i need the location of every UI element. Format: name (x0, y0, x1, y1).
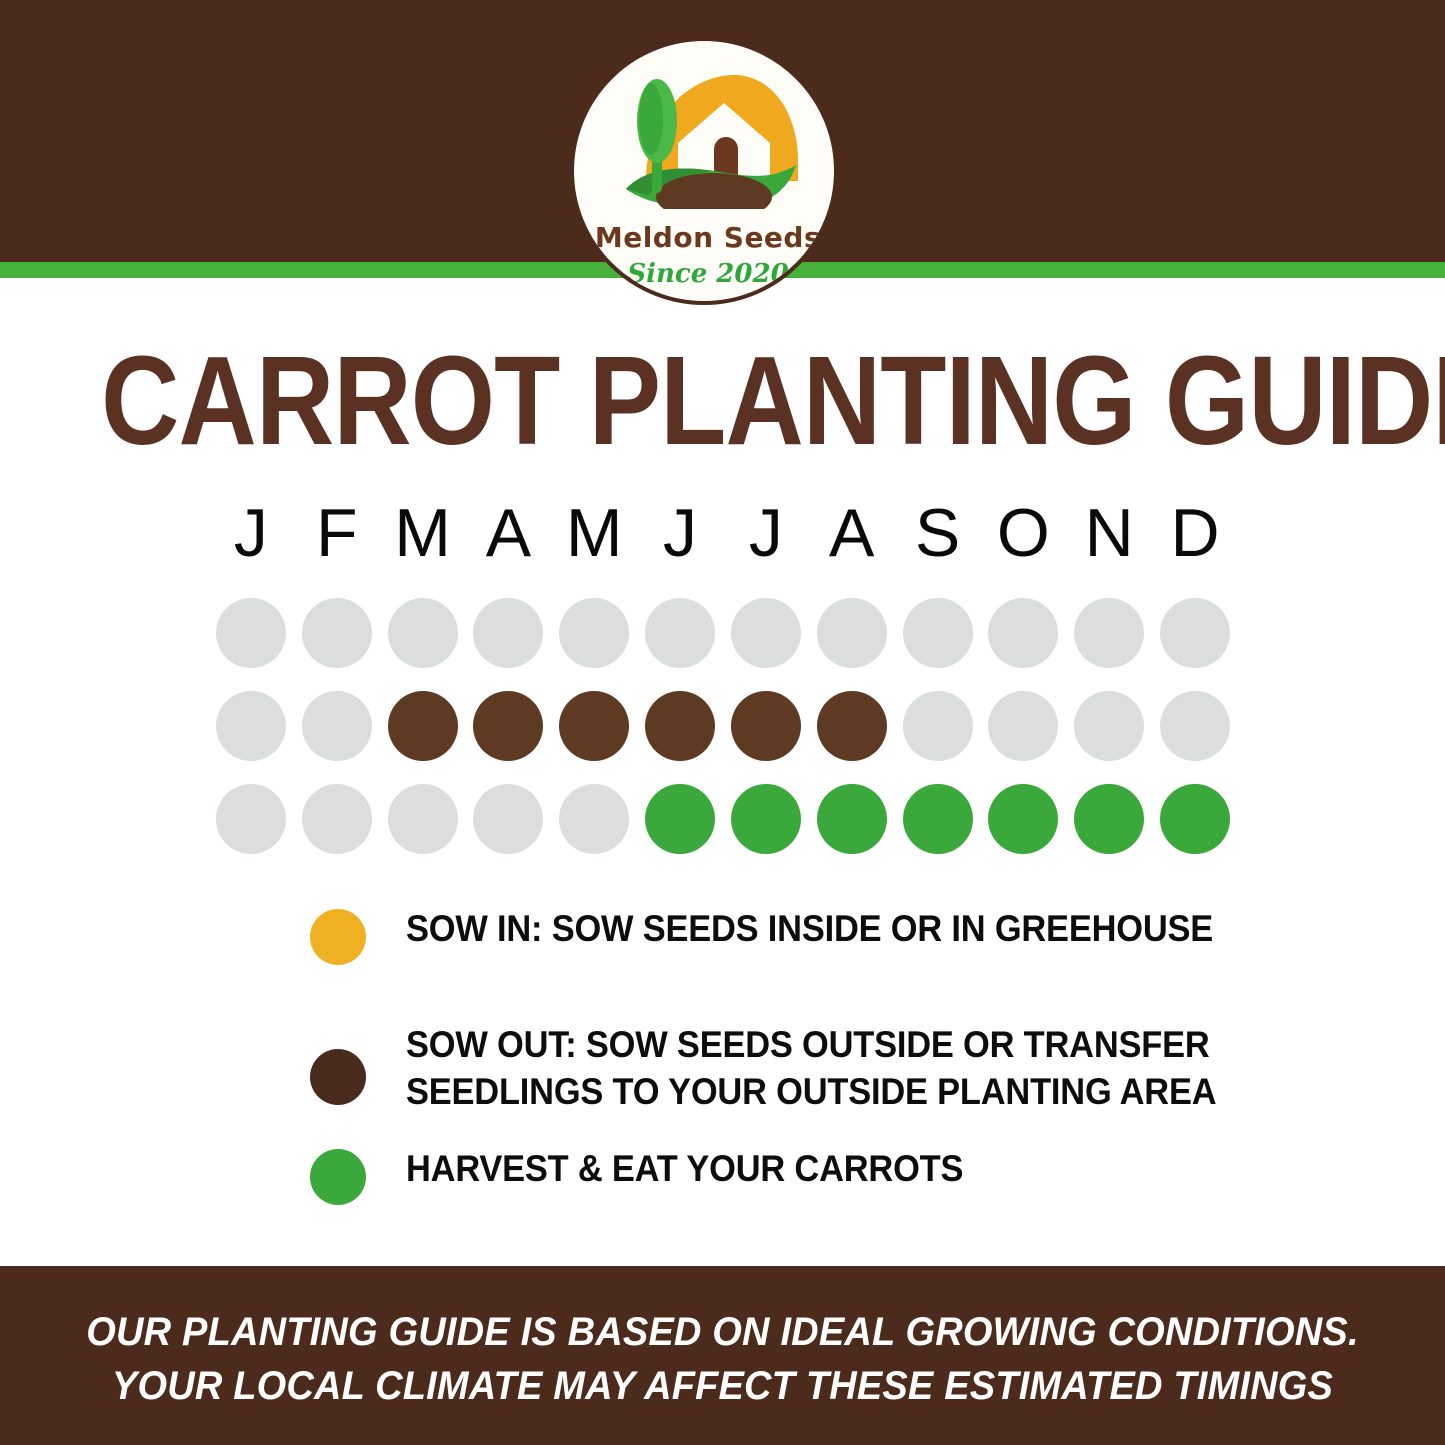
month-label-feb: F (294, 498, 380, 568)
calendar-cell (895, 691, 981, 761)
calendar-cell (1152, 691, 1238, 761)
planting-calendar-grid (208, 598, 1238, 877)
calendar-dot-sow-in-A4 (473, 598, 543, 668)
calendar-cell (465, 784, 551, 854)
calendar-dot-sow-out-J1 (216, 691, 286, 761)
calendar-dot-sow-out-J7 (731, 691, 801, 761)
calendar-row-sow-out (208, 691, 1238, 784)
calendar-dot-sow-out-J6 (645, 691, 715, 761)
calendar-cell (380, 691, 466, 761)
month-label-apr: A (465, 498, 551, 568)
calendar-dot-sow-in-M5 (559, 598, 629, 668)
calendar-cell (980, 784, 1066, 854)
legend-label-sow-out-line2: SEEDLINGS TO YOUR OUTSIDE PLANTING AREA (406, 1068, 1216, 1115)
legend-swatch-sow-in (310, 909, 366, 965)
calendar-cell (551, 598, 637, 668)
page-title: CARROT PLANTING GUIDE (101, 338, 1344, 464)
calendar-cell (551, 784, 637, 854)
calendar-cell (980, 598, 1066, 668)
month-label-mar: M (380, 498, 466, 568)
calendar-cell (1066, 784, 1152, 854)
calendar-dot-sow-out-A4 (473, 691, 543, 761)
logo-circle: Meldon Seeds Since 2020 (570, 37, 838, 305)
month-label-jul: J (723, 498, 809, 568)
calendar-dot-harvest-D12 (1160, 784, 1230, 854)
calendar-dot-sow-out-O10 (988, 691, 1058, 761)
month-label-nov: N (1066, 498, 1152, 568)
calendar-dot-sow-in-S9 (903, 598, 973, 668)
calendar-cell (723, 691, 809, 761)
calendar-dot-harvest-M5 (559, 784, 629, 854)
calendar-cell (895, 784, 981, 854)
calendar-cell (294, 691, 380, 761)
legend-label-sow-out: SOW OUT: SOW SEEDS OUTSIDE OR TRANSFER S… (406, 1021, 1216, 1115)
calendar-cell (208, 784, 294, 854)
calendar-cell (294, 784, 380, 854)
calendar-dot-harvest-S9 (903, 784, 973, 854)
calendar-dot-sow-in-J1 (216, 598, 286, 668)
calendar-cell (1152, 598, 1238, 668)
calendar-dot-sow-in-O10 (988, 598, 1058, 668)
calendar-dot-harvest-A4 (473, 784, 543, 854)
month-label-jan: J (208, 498, 294, 568)
calendar-cell (809, 784, 895, 854)
calendar-cell (380, 784, 466, 854)
calendar-cell (637, 691, 723, 761)
calendar-dot-sow-in-F2 (302, 598, 372, 668)
month-label-may: M (551, 498, 637, 568)
month-header-row: J F M A M J J A S O N D (208, 498, 1238, 568)
calendar-cell (637, 784, 723, 854)
logo-tagline: Since 2020 (574, 259, 838, 289)
legend-label-sow-in: SOW IN: SOW SEEDS INSIDE OR IN GREEHOUSE (406, 905, 1213, 952)
calendar-dot-sow-out-A8 (817, 691, 887, 761)
calendar-cell (1152, 784, 1238, 854)
logo-brand-name: Meldon Seeds (574, 221, 838, 254)
calendar-dot-harvest-M3 (388, 784, 458, 854)
calendar-dot-harvest-J1 (216, 784, 286, 854)
calendar-dot-harvest-N11 (1074, 784, 1144, 854)
calendar-dot-sow-out-M5 (559, 691, 629, 761)
legend-swatch-sow-out (310, 1049, 366, 1105)
calendar-dot-sow-in-A8 (817, 598, 887, 668)
calendar-dot-sow-out-D12 (1160, 691, 1230, 761)
month-label-jun: J (637, 498, 723, 568)
calendar-dot-sow-out-N11 (1074, 691, 1144, 761)
calendar-cell (637, 598, 723, 668)
calendar-cell (809, 598, 895, 668)
calendar-cell (1066, 598, 1152, 668)
calendar-cell (551, 691, 637, 761)
footer-disclaimer-line1: OUR PLANTING GUIDE IS BASED ON IDEAL GRO… (36, 1305, 1409, 1359)
month-label-oct: O (980, 498, 1066, 568)
calendar-dot-sow-out-F2 (302, 691, 372, 761)
calendar-cell (723, 598, 809, 668)
footer-disclaimer: OUR PLANTING GUIDE IS BASED ON IDEAL GRO… (36, 1305, 1409, 1413)
calendar-row-harvest (208, 784, 1238, 877)
legend-row-harvest: HARVEST & EAT YOUR CARROTS (310, 1145, 1310, 1205)
calendar-cell (895, 598, 981, 668)
calendar-cell (380, 598, 466, 668)
calendar-cell (465, 598, 551, 668)
brand-logo: Meldon Seeds Since 2020 (570, 37, 838, 305)
month-label-aug: A (809, 498, 895, 568)
footer-disclaimer-line2: YOUR LOCAL CLIMATE MAY AFFECT THESE ESTI… (36, 1359, 1409, 1413)
calendar-dot-sow-in-J7 (731, 598, 801, 668)
calendar-cell (1066, 691, 1152, 761)
calendar-dot-sow-out-M3 (388, 691, 458, 761)
calendar-cell (294, 598, 380, 668)
calendar-row-sow-in (208, 598, 1238, 691)
calendar-dot-sow-out-S9 (903, 691, 973, 761)
calendar-cell (465, 691, 551, 761)
legend-label-sow-out-line1: SOW OUT: SOW SEEDS OUTSIDE OR TRANSFER (406, 1021, 1216, 1068)
legend-swatch-harvest (310, 1149, 366, 1205)
calendar-cell (208, 598, 294, 668)
month-label-sep: S (895, 498, 981, 568)
calendar-cell (723, 784, 809, 854)
legend-row-sow-out: SOW OUT: SOW SEEDS OUTSIDE OR TRANSFER S… (310, 1021, 1310, 1115)
calendar-dot-harvest-A8 (817, 784, 887, 854)
calendar-cell (809, 691, 895, 761)
calendar-dot-sow-in-M3 (388, 598, 458, 668)
farmhouse-tree-soil-icon (574, 69, 838, 209)
calendar-dot-harvest-J6 (645, 784, 715, 854)
calendar-dot-sow-in-N11 (1074, 598, 1144, 668)
calendar-dot-harvest-O10 (988, 784, 1058, 854)
calendar-dot-sow-in-J6 (645, 598, 715, 668)
calendar-dot-sow-in-D12 (1160, 598, 1230, 668)
month-label-dec: D (1152, 498, 1238, 568)
calendar-dot-harvest-J7 (731, 784, 801, 854)
calendar-cell (208, 691, 294, 761)
calendar-dot-harvest-F2 (302, 784, 372, 854)
calendar-cell (980, 691, 1066, 761)
legend: SOW IN: SOW SEEDS INSIDE OR IN GREEHOUSE… (310, 905, 1310, 1261)
legend-label-harvest: HARVEST & EAT YOUR CARROTS (406, 1145, 963, 1192)
legend-row-sow-in: SOW IN: SOW SEEDS INSIDE OR IN GREEHOUSE (310, 905, 1310, 965)
